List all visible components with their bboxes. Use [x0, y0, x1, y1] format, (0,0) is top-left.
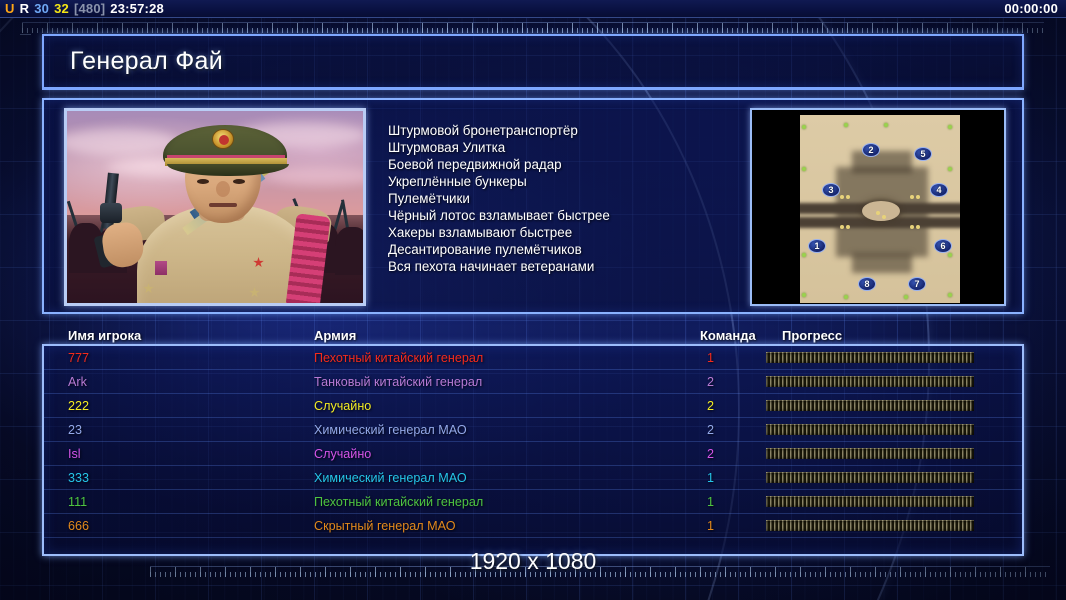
column-header-army: Армия — [314, 328, 356, 343]
hud-u-label: U — [5, 1, 15, 16]
general-portrait — [64, 108, 366, 306]
map-supply-dock — [802, 293, 806, 297]
player-team: 1 — [707, 495, 714, 509]
player-army: Скрытный генерал МАО — [314, 519, 456, 533]
portrait-eye — [197, 179, 209, 184]
general-abilities-list: Штурмовой бронетранспортёр Штурмовая Ули… — [388, 118, 738, 300]
player-row[interactable]: ArkТанковый китайский генерал2 — [44, 370, 1022, 394]
map-oil-derrick — [916, 195, 920, 199]
hud-clock-wrap: 00:00:00 — [1004, 1, 1066, 16]
map-start-position-label: 2 — [868, 145, 873, 155]
map-supply-dock — [948, 293, 952, 297]
map-start-position-4[interactable]: 4 — [930, 183, 948, 197]
map-start-position-label: 4 — [936, 185, 941, 195]
map-start-position-3[interactable]: 3 — [822, 183, 840, 197]
map-supply-dock — [802, 167, 806, 171]
player-name: 111 — [68, 495, 87, 509]
map-center-clearing — [862, 201, 900, 221]
map-start-position-2[interactable]: 2 — [862, 143, 880, 157]
player-team: 1 — [707, 351, 714, 365]
player-name: 222 — [68, 399, 89, 413]
portrait-eye — [233, 179, 245, 184]
player-progress-bar — [766, 520, 974, 531]
ability-item: Вся пехота начинает ветеранами — [388, 258, 738, 275]
hud-ups-value: 32 — [54, 1, 69, 16]
hud-bracket-value: [480] — [74, 1, 105, 16]
title-band: Генерал Фай — [42, 34, 1024, 90]
map-oil-derrick — [840, 225, 844, 229]
map-start-position-label: 6 — [940, 241, 945, 251]
player-army: Пехотный китайский генерал — [314, 351, 483, 365]
portrait-medal — [155, 261, 167, 275]
player-row[interactable]: 23Химический генерал МАО2 — [44, 418, 1022, 442]
player-name: Isl — [68, 447, 81, 461]
player-team: 2 — [707, 399, 714, 413]
map-supply-dock — [904, 295, 908, 299]
ability-item: Пулемётчики — [388, 190, 738, 207]
map-supply-dock — [802, 125, 806, 129]
player-row[interactable]: 333Химический генерал МАО1 — [44, 466, 1022, 490]
hud-clock: 00:00:00 — [1004, 1, 1058, 16]
map-oil-derrick — [882, 215, 886, 219]
hud-game-time: 23:57:28 — [110, 1, 164, 16]
player-army: Случайно — [314, 399, 371, 413]
player-progress-bar — [766, 424, 974, 435]
player-army: Химический генерал МАО — [314, 423, 467, 437]
player-row[interactable]: 222Случайно2 — [44, 394, 1022, 418]
hud-fps-value: 30 — [34, 1, 49, 16]
map-oil-derrick — [846, 195, 850, 199]
player-row[interactable]: 777Пехотный китайский генерал1 — [44, 346, 1022, 370]
map-start-position-5[interactable]: 5 — [914, 147, 932, 161]
map-start-position-7[interactable]: 7 — [908, 277, 926, 291]
player-progress-bar — [766, 472, 974, 483]
ability-item: Хакеры взламывают быстрее — [388, 224, 738, 241]
player-name: 333 — [68, 471, 89, 485]
map-supply-dock — [844, 295, 848, 299]
general-info-band: Штурмовой бронетранспортёр Штурмовая Ули… — [42, 98, 1024, 314]
map-oil-derrick — [840, 195, 844, 199]
player-team: 2 — [707, 375, 714, 389]
map-oil-derrick — [910, 195, 914, 199]
map-oil-derrick — [846, 225, 850, 229]
player-army: Пехотный китайский генерал — [314, 495, 483, 509]
map-start-position-label: 5 — [920, 149, 925, 159]
map-terrain-dark — [852, 253, 912, 273]
map-supply-dock — [802, 253, 806, 257]
map-start-position-label: 8 — [864, 279, 869, 289]
map-start-position-label: 7 — [914, 279, 919, 289]
player-team: 2 — [707, 423, 714, 437]
map-supply-dock — [884, 123, 888, 127]
map-supply-dock — [948, 253, 952, 257]
map-terrain-dark — [852, 151, 912, 173]
ability-item: Штурмовой бронетранспортёр — [388, 122, 738, 139]
map-supply-dock — [948, 167, 952, 171]
hud-bar: U R 30 32 [480] 23:57:28 00:00:00 — [0, 0, 1066, 18]
game-lobby-screen: U R 30 32 [480] 23:57:28 00:00:00 Генера… — [0, 0, 1066, 600]
map-start-position-8[interactable]: 8 — [858, 277, 876, 291]
map-oil-derrick — [916, 225, 920, 229]
player-progress-bar — [766, 496, 974, 507]
map-start-position-label: 3 — [828, 185, 833, 195]
portrait-cap-emblem — [212, 129, 234, 149]
player-progress-bar — [766, 376, 974, 387]
player-army: Танковый китайский генерал — [314, 375, 482, 389]
ability-item: Боевой передвижной радар — [388, 156, 738, 173]
player-row[interactable]: IslСлучайно2 — [44, 442, 1022, 466]
player-row[interactable]: 666Скрытный генерал МАО1 — [44, 514, 1022, 538]
player-name: 666 — [68, 519, 89, 533]
player-list: 777Пехотный китайский генерал1ArkТанковы… — [42, 344, 1024, 556]
player-name: 777 — [68, 351, 89, 365]
player-row[interactable]: 111Пехотный китайский генерал1 — [44, 490, 1022, 514]
player-progress-bar — [766, 400, 974, 411]
player-team: 2 — [707, 447, 714, 461]
player-team: 1 — [707, 519, 714, 533]
portrait-pistol-cylinder — [100, 203, 122, 223]
player-name: 23 — [68, 423, 82, 437]
portrait-mouth — [209, 203, 237, 207]
player-army: Случайно — [314, 447, 371, 461]
lobby-frame: Генерал Фай — [42, 34, 1024, 556]
map-start-position-6[interactable]: 6 — [934, 239, 952, 253]
ability-item: Чёрный лотос взламывает быстрее — [388, 207, 738, 224]
player-progress-bar — [766, 352, 974, 363]
map-oil-derrick — [876, 211, 880, 215]
player-progress-bar — [766, 448, 974, 459]
player-name: Ark — [68, 375, 87, 389]
ability-item: Штурмовая Улитка — [388, 139, 738, 156]
hud-r-label: R — [20, 1, 30, 16]
map-preview[interactable]: 12345678 — [750, 108, 1006, 306]
portrait-nose — [216, 181, 230, 197]
hud-stats: U R 30 32 [480] 23:57:28 — [0, 1, 164, 16]
map-supply-dock — [844, 123, 848, 127]
player-army: Химический генерал МАО — [314, 471, 467, 485]
player-team: 1 — [707, 471, 714, 485]
column-header-progress: Прогресс — [782, 328, 842, 343]
column-header-name: Имя игрока — [68, 328, 141, 343]
portrait-troop — [335, 227, 366, 275]
player-list-header: Имя игрока Армия Команда Прогресс — [42, 322, 1024, 344]
ability-item: Укреплённые бункеры — [388, 173, 738, 190]
map-supply-dock — [948, 125, 952, 129]
map-start-position-1[interactable]: 1 — [808, 239, 826, 253]
map-preview-image: 12345678 — [800, 115, 960, 303]
resolution-label: 1920 x 1080 — [0, 548, 1066, 575]
map-oil-derrick — [910, 225, 914, 229]
column-header-team: Команда — [700, 328, 756, 343]
page-title: Генерал Фай — [44, 47, 223, 76]
map-start-position-label: 1 — [814, 241, 819, 251]
ability-item: Десантирование пулемётчиков — [388, 241, 738, 258]
